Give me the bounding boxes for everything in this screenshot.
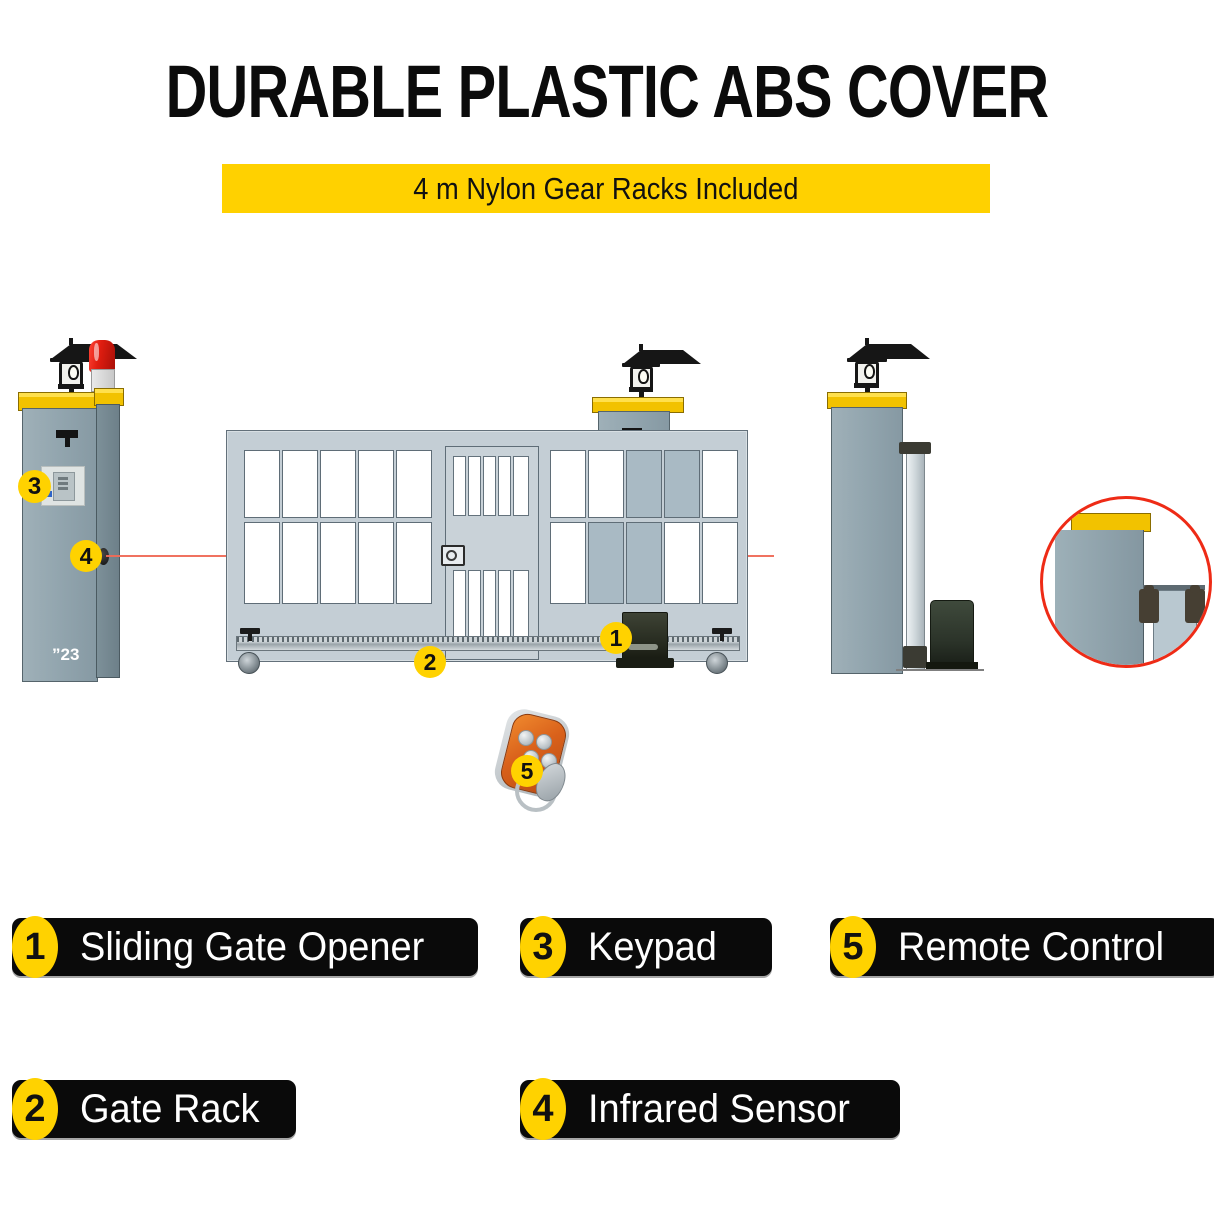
gate-door-slat [513, 456, 529, 516]
gate-door-slat [498, 570, 511, 638]
marker-badge-4[interactable]: 4 [70, 540, 102, 572]
gate-pane [588, 450, 624, 518]
gate-pane [320, 522, 356, 604]
legend-sliding-gate-opener[interactable]: Sliding Gate Opener [12, 918, 478, 976]
legend-badge-3-label: 3 [532, 928, 553, 966]
legend-badge-5-label: 5 [842, 928, 863, 966]
legend-badge-1[interactable]: 1 [12, 916, 58, 978]
legend-infrared-sensor-label: Infrared Sensor [588, 1089, 850, 1129]
left-pillar-side [96, 404, 120, 678]
lantern-icon-middle [620, 344, 662, 400]
product-illustration: ”23 3 4 [0, 300, 1214, 870]
gate-pane [358, 522, 394, 604]
subtitle-banner: 4 m Nylon Gear Racks Included [222, 164, 990, 213]
gate-pane [320, 450, 356, 518]
subtitle-text: 4 m Nylon Gear Racks Included [413, 171, 798, 207]
marker-badge-2[interactable]: 2 [414, 646, 446, 678]
vertical-guide-rail [906, 447, 925, 671]
marker-badge-3[interactable]: 3 [18, 470, 51, 503]
gate-door-slat [453, 456, 466, 516]
gate-pane [702, 450, 738, 518]
gate-door-slat [483, 570, 496, 638]
ground-line [896, 669, 984, 671]
legend-badge-3[interactable]: 3 [520, 916, 566, 978]
gate-door-slat [453, 570, 466, 638]
right-pillar-body [831, 407, 903, 674]
gate-door-handle[interactable] [441, 545, 465, 566]
gate-wheel [238, 652, 260, 674]
legend-badge-4-label: 4 [532, 1090, 553, 1128]
motor-housing [930, 600, 974, 670]
detail-roller-left [1139, 589, 1159, 623]
gate-pane [396, 522, 432, 604]
gate-pane [550, 522, 586, 604]
legend-badge-2[interactable]: 2 [12, 1078, 58, 1140]
gate-door-slat [468, 570, 481, 638]
roller-guide-detail [1040, 496, 1212, 668]
left-pillar-marking: ”23 [52, 645, 79, 665]
gate-pane [244, 522, 280, 604]
gate-pane [626, 522, 662, 604]
pillar-lock-icon [56, 430, 78, 438]
rack-end-stop [240, 628, 260, 634]
gate-pane [282, 522, 318, 604]
legend-keypad-label: Keypad [588, 927, 717, 967]
rack-end-stop [712, 628, 732, 634]
remote-button[interactable] [536, 734, 552, 750]
gate-pane [664, 522, 700, 604]
detail-pillar-wall [1055, 530, 1144, 665]
lantern-icon [48, 338, 94, 396]
gate-pane [664, 450, 700, 518]
page-title: DURABLE PLASTIC ABS COVER [134, 52, 1081, 132]
remote-button[interactable] [518, 730, 534, 746]
gate-pane [550, 450, 586, 518]
legend-remote-control[interactable]: Remote Control [830, 918, 1214, 976]
opener-label-strip [628, 644, 658, 650]
gate-pane [282, 450, 318, 518]
gate-pane [702, 522, 738, 604]
marker-badge-2-label: 2 [424, 651, 437, 674]
legend-badge-2-label: 2 [24, 1090, 45, 1128]
legend-badge-4[interactable]: 4 [520, 1078, 566, 1140]
opener-base-plate [616, 658, 674, 668]
red-beacon-icon [89, 340, 115, 392]
marker-badge-5-label: 5 [521, 760, 534, 783]
gate-pane [244, 450, 280, 518]
legend-gate-rack-label: Gate Rack [80, 1089, 260, 1129]
gate-pane [588, 522, 624, 604]
marker-badge-1-label: 1 [610, 627, 623, 650]
legend-remote-control-label: Remote Control [898, 927, 1164, 967]
legend-infrared-sensor[interactable]: Infrared Sensor [520, 1080, 900, 1138]
gate-pane [396, 450, 432, 518]
gate-door-slat [468, 456, 481, 516]
legend-badge-1-label: 1 [24, 928, 45, 966]
rail-bracket-bottom [903, 646, 927, 668]
rail-bracket-top [899, 442, 931, 454]
gate-pane [626, 450, 662, 518]
lantern-icon-right [845, 338, 889, 396]
marker-badge-4-label: 4 [80, 545, 93, 568]
legend-sliding-gate-opener-label: Sliding Gate Opener [80, 927, 424, 967]
legend-badge-5[interactable]: 5 [830, 916, 876, 978]
marker-badge-1[interactable]: 1 [600, 622, 632, 654]
gate-pane [358, 450, 394, 518]
marker-badge-5[interactable]: 5 [511, 755, 543, 787]
detail-roller-right [1185, 589, 1205, 623]
gate-wheel [706, 652, 728, 674]
gate-door-slat [483, 456, 496, 516]
marker-badge-3-label: 3 [28, 475, 41, 499]
gate-door-slat [498, 456, 511, 516]
gate-door-slat [513, 570, 529, 638]
